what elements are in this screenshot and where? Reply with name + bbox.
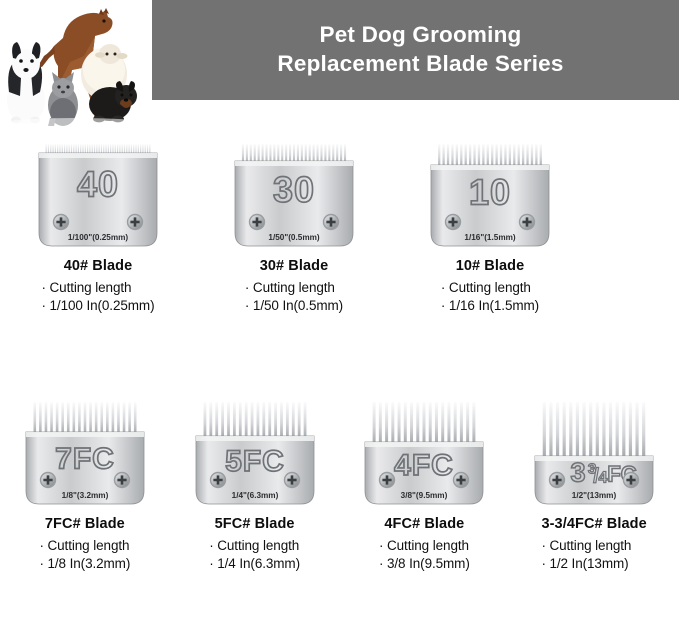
blade-card[interactable]: 33/4FC 1/2"(13mm) 3-3/4FC# Blade ·Cuttin… [509, 392, 679, 573]
blade-etched-size: 1/2"(13mm) [572, 491, 617, 500]
svg-text:3: 3 [571, 457, 586, 487]
blade-image-wrap: 5FC 1/4"(6.3mm) [190, 392, 320, 510]
blade-illustration: 40 1/100"(0.25mm) [33, 134, 163, 252]
blade-illustration: 4FC 3/8"(9.5mm) [359, 392, 489, 510]
blade-spec-value: ·1/2 In(13mm) [541, 555, 646, 573]
blade-spec-value: ·1/4 In(6.3mm) [209, 555, 300, 573]
blade-image-wrap: 7FC 1/8"(3.2mm) [20, 392, 150, 510]
blade-spec-label: ·Cutting length [209, 537, 300, 555]
blade-illustration: 30 1/50"(0.5mm) [229, 134, 359, 252]
blade-spec-label: ·Cutting length [42, 279, 155, 297]
blade-caption: 40# Blade ·Cutting length ·1/100 In(0.25… [42, 258, 155, 315]
blade-spec-label: ·Cutting length [245, 279, 343, 297]
blade-image-wrap: 30 1/50"(0.5mm) [229, 134, 359, 252]
blade-card[interactable]: 40 1/100"(0.25mm) 40# Blade ·Cutting len… [0, 134, 196, 315]
blade-etched-size: 1/100"(0.25mm) [68, 233, 129, 242]
blade-name: 3-3/4FC# Blade [541, 516, 646, 532]
blade-etched-size: 1/50"(0.5mm) [268, 233, 319, 242]
blade-card[interactable]: 10 1/16"(1.5mm) 10# Blade ·Cutting lengt… [392, 134, 588, 315]
blade-spec-label: ·Cutting length [40, 537, 131, 555]
blade-spec-value: ·3/8 In(9.5mm) [379, 555, 470, 573]
blade-name: 5FC# Blade [209, 516, 300, 532]
blade-caption: 7FC# Blade ·Cutting length ·1/8 In(3.2mm… [40, 516, 131, 573]
banner-title-line-2: Replacement Blade Series [277, 50, 563, 79]
blade-caption: 30# Blade ·Cutting length ·1/50 In(0.5mm… [245, 258, 343, 315]
blade-caption: 4FC# Blade ·Cutting length ·3/8 In(9.5mm… [379, 516, 470, 573]
title-banner: Pet Dog Grooming Replacement Blade Serie… [152, 0, 679, 100]
blade-spec-value: ·1/50 In(0.5mm) [245, 297, 343, 315]
blade-name: 40# Blade [42, 258, 155, 274]
blade-row-bottom: 7FC 1/8"(3.2mm) 7FC# Blade ·Cutting leng… [0, 392, 679, 573]
blade-caption: 5FC# Blade ·Cutting length ·1/4 In(6.3mm… [209, 516, 300, 573]
blade-caption: 3-3/4FC# Blade ·Cutting length ·1/2 In(1… [541, 516, 646, 573]
blade-caption: 10# Blade ·Cutting length ·1/16 In(1.5mm… [441, 258, 539, 315]
svg-text:40: 40 [77, 164, 119, 205]
blade-row-top: 40 1/100"(0.25mm) 40# Blade ·Cutting len… [0, 134, 679, 315]
blade-illustration: 10 1/16"(1.5mm) [425, 134, 555, 252]
banner-title: Pet Dog Grooming Replacement Blade Serie… [267, 21, 563, 79]
pets-collage-svg [0, 0, 152, 127]
svg-text:4FC: 4FC [395, 449, 455, 482]
blade-spec-label: ·Cutting length [441, 279, 539, 297]
blade-spec-value: ·1/16 In(1.5mm) [441, 297, 539, 315]
blade-illustration: 5FC 1/4"(6.3mm) [190, 392, 320, 510]
svg-text:10: 10 [469, 172, 511, 213]
svg-text:7FC: 7FC [55, 442, 115, 475]
svg-text:5FC: 5FC [225, 445, 285, 478]
banner-title-line-1: Pet Dog Grooming [277, 21, 563, 50]
header-banner-area: Pet Dog Grooming Replacement Blade Serie… [0, 0, 679, 130]
blade-spec-value: ·1/8 In(3.2mm) [40, 555, 131, 573]
blade-card[interactable]: 30 1/50"(0.5mm) 30# Blade ·Cutting lengt… [196, 134, 392, 315]
blade-card[interactable]: 5FC 1/4"(6.3mm) 5FC# Blade ·Cutting leng… [170, 392, 340, 573]
blade-spec-label: ·Cutting length [541, 537, 646, 555]
blade-etched-size: 1/4"(6.3mm) [231, 491, 278, 500]
blade-illustration: 33/4FC 1/2"(13mm) [529, 392, 659, 510]
pets-collage-image [0, 0, 152, 127]
blade-name: 7FC# Blade [40, 516, 131, 532]
blade-image-wrap: 33/4FC 1/2"(13mm) [529, 392, 659, 510]
blade-image-wrap: 40 1/100"(0.25mm) [33, 134, 163, 252]
blade-spec-label: ·Cutting length [379, 537, 470, 555]
blade-card[interactable]: 7FC 1/8"(3.2mm) 7FC# Blade ·Cutting leng… [0, 392, 170, 573]
blade-etched-size: 3/8"(9.5mm) [401, 491, 448, 500]
blade-etched-size: 1/16"(1.5mm) [464, 233, 515, 242]
blade-illustration: 7FC 1/8"(3.2mm) [20, 392, 150, 510]
svg-text:30: 30 [273, 169, 315, 210]
blade-name: 30# Blade [245, 258, 343, 274]
border-collie-figure [7, 42, 45, 124]
blade-name: 10# Blade [441, 258, 539, 274]
blade-etched-size: 1/8"(3.2mm) [62, 491, 109, 500]
blade-card[interactable]: 4FC 3/8"(9.5mm) 4FC# Blade ·Cutting leng… [340, 392, 510, 573]
svg-text:4: 4 [599, 469, 608, 486]
blade-image-wrap: 4FC 3/8"(9.5mm) [359, 392, 489, 510]
blade-name: 4FC# Blade [379, 516, 470, 532]
blade-spec-value: ·1/100 In(0.25mm) [42, 297, 155, 315]
blade-image-wrap: 10 1/16"(1.5mm) [425, 134, 555, 252]
